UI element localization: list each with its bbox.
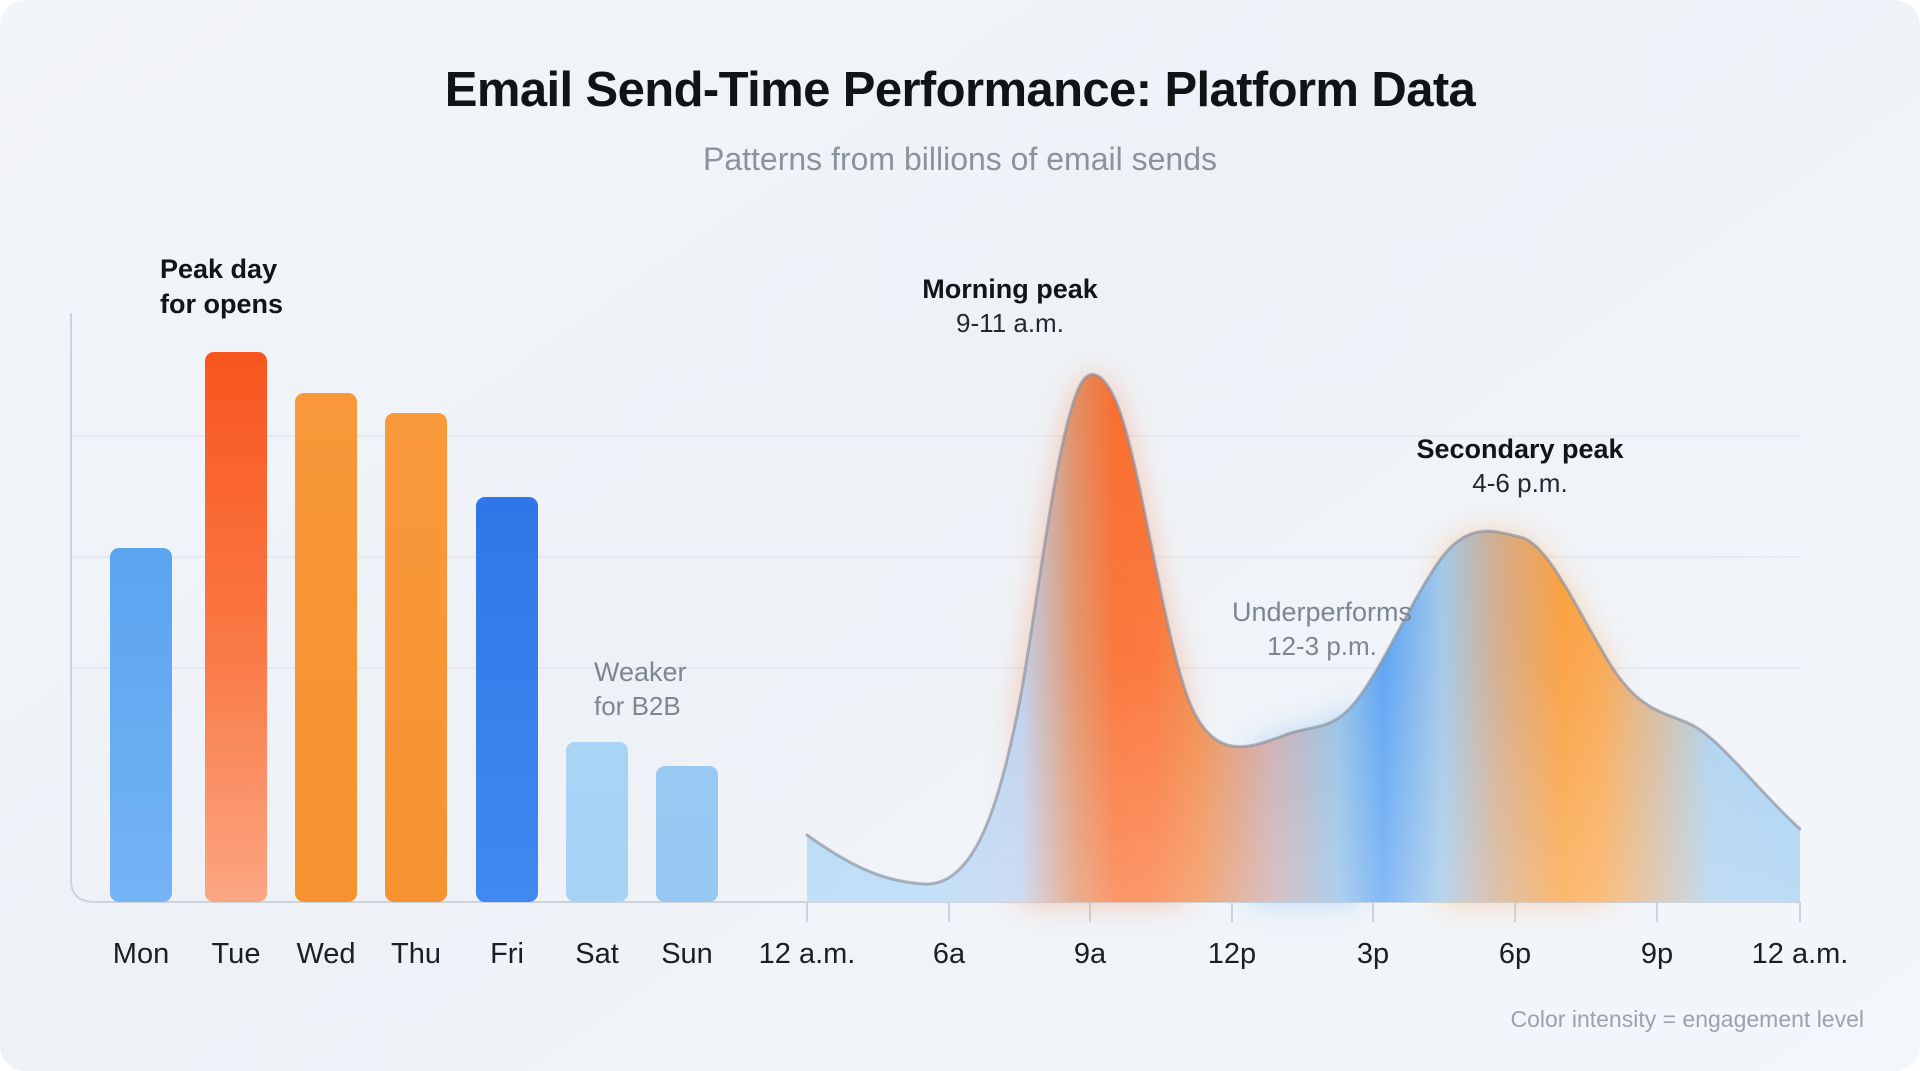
annotation-morning-peak: Morning peak 9-11 a.m. bbox=[922, 272, 1098, 340]
chart-canvas: Email Send-Time Performance: Platform Da… bbox=[0, 0, 1920, 1071]
annotation-peak-day-subtitle: for opens bbox=[160, 287, 283, 322]
bar-thu bbox=[385, 413, 447, 902]
bar-tue bbox=[205, 352, 267, 902]
bar-sun bbox=[656, 766, 718, 902]
axis-frame bbox=[71, 313, 1800, 902]
bar-wed bbox=[295, 393, 357, 902]
bar-series bbox=[110, 352, 718, 902]
tick-12am-end: 12 a.m. bbox=[1752, 938, 1849, 971]
bar-sat bbox=[566, 742, 628, 902]
annotation-peak-day-title: Peak day bbox=[160, 252, 283, 287]
tick-12p: 12p bbox=[1208, 938, 1256, 971]
legend-caption: Color intensity = engagement level bbox=[1510, 1006, 1864, 1033]
bar-fri bbox=[476, 497, 538, 902]
annotation-morning-peak-title: Morning peak bbox=[922, 272, 1098, 307]
annotation-peak-day: Peak day for opens bbox=[160, 252, 283, 321]
tick-6a: 6a bbox=[933, 938, 965, 971]
tick-9p: 9p bbox=[1641, 938, 1673, 971]
tick-mon: Mon bbox=[113, 938, 169, 971]
tick-6p: 6p bbox=[1499, 938, 1531, 971]
tick-12am-start: 12 a.m. bbox=[759, 938, 856, 971]
chart-subtitle: Patterns from billions of email sends bbox=[0, 140, 1920, 178]
annotation-underperforms-subtitle: 12-3 p.m. bbox=[1232, 630, 1412, 663]
tick-fri: Fri bbox=[490, 938, 524, 971]
time-axis-ticks bbox=[807, 902, 1800, 922]
annotation-morning-peak-subtitle: 9-11 a.m. bbox=[922, 307, 1098, 340]
annotation-underperforms-title: Underperforms bbox=[1232, 595, 1412, 630]
annotation-underperforms: Underperforms 12-3 p.m. bbox=[1232, 595, 1412, 663]
tick-sun: Sun bbox=[661, 938, 713, 971]
tick-9a: 9a bbox=[1074, 938, 1106, 971]
annotation-secondary-peak-title: Secondary peak bbox=[1416, 432, 1623, 467]
annotation-weaker-b2b-subtitle: for B2B bbox=[594, 690, 687, 723]
bar-mon bbox=[110, 548, 172, 902]
tick-thu: Thu bbox=[391, 938, 441, 971]
tick-tue: Tue bbox=[212, 938, 261, 971]
annotation-secondary-peak-subtitle: 4-6 p.m. bbox=[1416, 467, 1623, 500]
tick-sat: Sat bbox=[575, 938, 619, 971]
annotation-weaker-b2b: Weaker for B2B bbox=[594, 655, 687, 723]
annotation-secondary-peak: Secondary peak 4-6 p.m. bbox=[1416, 432, 1623, 500]
chart-header: Email Send-Time Performance: Platform Da… bbox=[0, 62, 1920, 179]
annotation-weaker-b2b-title: Weaker bbox=[594, 655, 687, 690]
tick-3p: 3p bbox=[1357, 938, 1389, 971]
tick-wed: Wed bbox=[296, 938, 355, 971]
page-title: Email Send-Time Performance: Platform Da… bbox=[0, 62, 1920, 118]
